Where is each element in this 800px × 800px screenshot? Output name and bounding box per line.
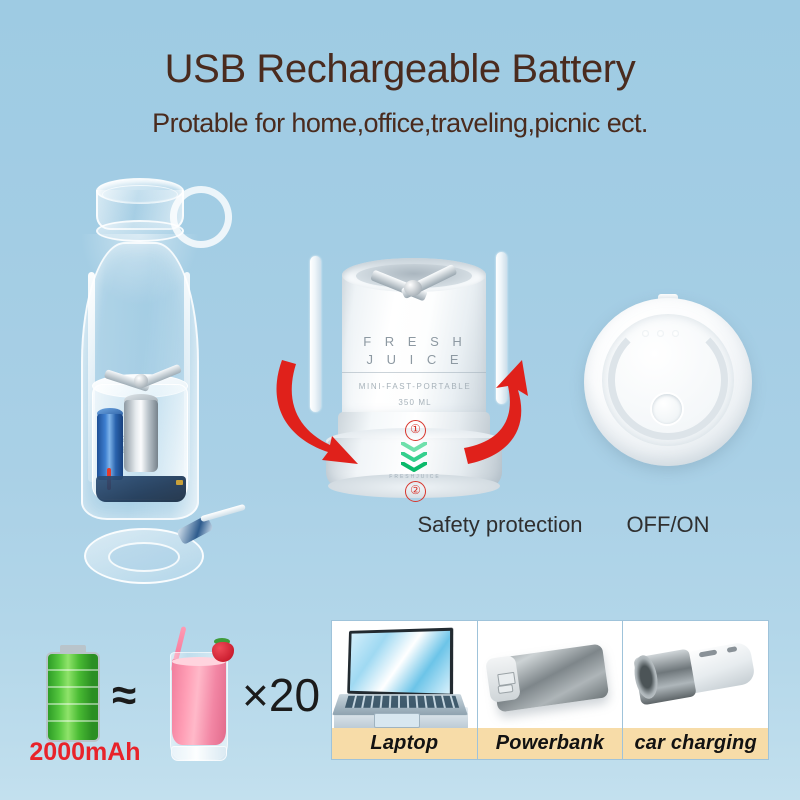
smoothie-glass-base — [171, 746, 227, 761]
led-indicator-group — [642, 330, 679, 337]
strawberry-icon — [212, 642, 234, 662]
blender-safety-illustration: F R E S H J U I C E MINI-FAST-PORTABLE 3… — [300, 252, 530, 502]
charging-options-panel: Laptop Powerbank car charging — [331, 620, 769, 760]
led-indicator-icon — [642, 330, 649, 337]
ring-base-cable — [200, 504, 246, 522]
internal-circuit-board — [96, 476, 186, 502]
servings-multiplier-label: ×20 — [242, 672, 320, 718]
exploded-bottle-illustration: FRESH JUICE — [58, 176, 248, 596]
battery-capacity-label: 2000mAh — [24, 738, 146, 767]
charging-option-label: Powerbank — [478, 728, 623, 759]
powerbank-icon — [478, 621, 623, 728]
internal-motor — [124, 400, 158, 472]
power-button[interactable] — [652, 394, 682, 424]
page-subtitle: Protable for home,office,traveling,picni… — [0, 108, 800, 139]
charging-option-card[interactable]: Laptop — [332, 621, 478, 759]
charging-option-label: car charging — [623, 728, 768, 759]
led-indicator-icon — [672, 330, 679, 337]
car-charger-icon — [623, 621, 768, 728]
pcb-chip — [176, 480, 183, 485]
blender-brand-line1: F R E S H — [300, 334, 530, 349]
charging-option-card[interactable]: Powerbank — [478, 621, 624, 759]
product-infographic-poster: USB Rechargeable Battery Protable for ho… — [0, 0, 800, 800]
page-title: USB Rechargeable Battery — [0, 47, 800, 92]
laptop-icon — [332, 621, 477, 728]
rotation-arrows-icon — [272, 352, 558, 502]
blender-blade-hub — [404, 280, 422, 296]
off-on-caption: OFF/ON — [578, 512, 758, 538]
charging-option-label: Laptop — [332, 728, 477, 759]
detached-ring-base-inner — [108, 542, 180, 572]
internal-blade-hub — [134, 374, 148, 388]
smoothie-fill — [172, 659, 226, 745]
led-indicator-icon — [657, 330, 664, 337]
battery-capacity-illustration: 2000mAh ≈ ×20 — [30, 630, 320, 770]
approximately-equal-symbol: ≈ — [112, 674, 136, 718]
smoothie-glass-icon — [170, 652, 228, 760]
charging-option-card[interactable]: car charging — [623, 621, 768, 759]
power-lid-illustration — [578, 288, 758, 488]
battery-icon — [46, 652, 100, 742]
